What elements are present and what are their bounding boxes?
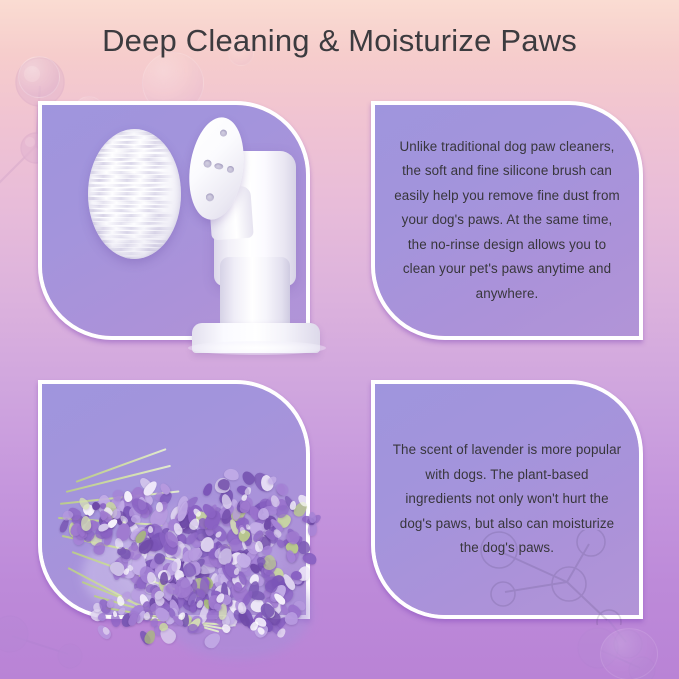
- bubble-icon: [600, 628, 658, 679]
- molecule-icon: [572, 620, 662, 679]
- feature-text-lavender-scent: The scent of lavender is more popular wi…: [391, 438, 623, 561]
- panel-background: [42, 105, 306, 336]
- lavender-flowers-image-panel: [38, 380, 310, 619]
- device-base-highlight: [188, 341, 326, 355]
- feature-text-lavender-scent-panel: The scent of lavender is more popular wi…: [371, 380, 643, 619]
- feature-text-silicone-brush: Unlike traditional dog paw cleaners, the…: [391, 135, 623, 307]
- page-title: Deep Cleaning & Moisturize Paws: [0, 20, 679, 62]
- bubble-icon: [18, 56, 60, 98]
- feature-text-silicone-brush-panel: Unlike traditional dog paw cleaners, the…: [371, 101, 643, 340]
- panel-text-body: The scent of lavender is more popular wi…: [375, 384, 639, 615]
- product-brush-image-panel: [38, 101, 310, 340]
- panel-text-body: Unlike traditional dog paw cleaners, the…: [375, 105, 639, 336]
- panel-background: [42, 384, 306, 615]
